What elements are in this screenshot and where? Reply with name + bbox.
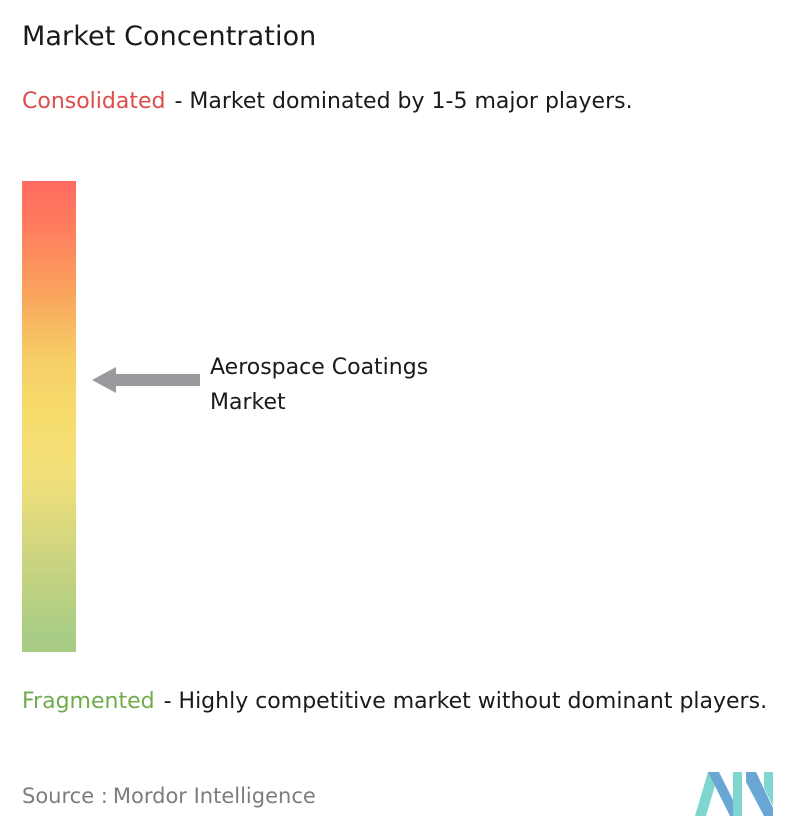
concentration-gradient-bar	[22, 181, 76, 652]
market-name-line-2: Market	[210, 385, 610, 420]
market-position-arrow	[92, 365, 200, 395]
caption-fragmented: Fragmented- Highly competitive market wi…	[22, 686, 784, 717]
source-name: Mordor Intelligence	[113, 784, 316, 808]
caption-consolidated-text: - Market dominated by 1-5 major players.	[174, 89, 632, 114]
caption-consolidated: Consolidated- Market dominated by 1-5 ma…	[22, 86, 774, 117]
market-concentration-figure: Market Concentration Consolidated- Marke…	[0, 0, 796, 834]
page-title: Market Concentration	[22, 20, 316, 54]
logo-shape-teal-middle	[733, 772, 742, 816]
source-attribution: Source :Mordor Intelligence	[22, 782, 316, 810]
source-label: Source :	[22, 784, 108, 808]
caption-fragmented-text: - Highly competitive market without domi…	[164, 689, 767, 714]
market-name-line-1: Aerospace Coatings	[210, 350, 610, 385]
market-name-label: Aerospace Coatings Market	[210, 350, 610, 420]
arrow-left-icon	[92, 367, 200, 393]
label-consolidated: Consolidated	[22, 89, 165, 114]
label-fragmented: Fragmented	[22, 689, 155, 714]
mordor-intelligence-logo	[694, 768, 774, 818]
